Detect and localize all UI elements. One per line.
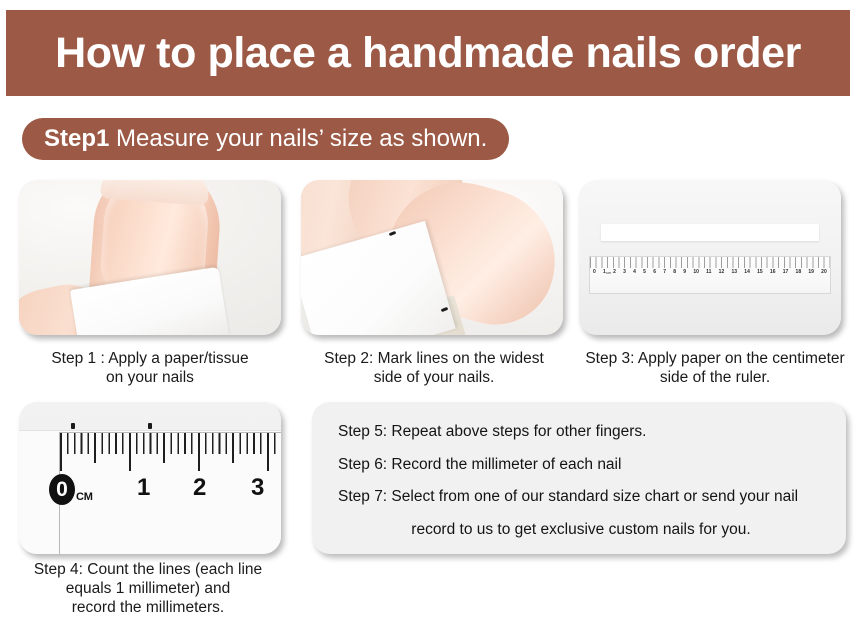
- steps-5-to-7-panel: Step 5: Repeat above steps for other fin…: [312, 402, 846, 554]
- ruler-number: 0: [593, 269, 596, 275]
- photo-card-step1: [19, 180, 281, 335]
- caption-step2: Step 2: Mark lines on the widest side of…: [295, 350, 573, 388]
- step1-banner-description: Measure your nails’ size as shown.: [116, 125, 487, 152]
- photo-thumb-with-paper-wrapped: [19, 180, 281, 335]
- ruler-tick-marks: [590, 257, 830, 268]
- ruler-unit-label: cm: [606, 270, 611, 275]
- ruler-number: 2: [613, 269, 616, 275]
- ruler-number: 12: [719, 269, 725, 275]
- step6-line: Step 6: Record the millimeter of each na…: [338, 455, 820, 475]
- ruler-number: 14: [744, 269, 750, 275]
- caption-step3: Step 3: Apply paper on the centimeter si…: [570, 350, 860, 388]
- ruler-number: 20: [821, 269, 827, 275]
- ruler-number: 10: [693, 269, 699, 275]
- ruler-number: 4: [633, 269, 636, 275]
- ruler-number-3: 3: [251, 476, 264, 500]
- ruler-number: 3: [623, 269, 626, 275]
- step1-banner: Step1 Measure your nails’ size as shown.: [22, 118, 509, 160]
- ruler-number: 8: [673, 269, 676, 275]
- caption-step1-line2: on your nails: [5, 369, 295, 388]
- header-banner: How to place a handmade nails order: [6, 10, 850, 96]
- ruler-zero-badge: 0: [49, 474, 75, 505]
- photo-card-step4: 0 CM 1 2 3: [19, 402, 281, 554]
- ruler-number: 17: [783, 269, 789, 275]
- step7-line1: Step 7: Select from one of our standard …: [338, 487, 820, 507]
- page-title: How to place a handmade nails order: [55, 32, 801, 75]
- ruler-number: 16: [770, 269, 776, 275]
- caption-step2-line2: side of your nails.: [295, 369, 573, 388]
- caption-step4-line1: Step 4: Count the lines (each line: [0, 561, 296, 580]
- caption-step4-line3: record the millimeters.: [0, 599, 296, 618]
- ruler-zero-group: 0 CM: [49, 474, 93, 505]
- caption-step3-line2: side of the ruler.: [570, 369, 860, 388]
- caption-step3-line1: Step 3: Apply paper on the centimeter: [570, 350, 860, 369]
- photo-card-step3: 0 1 2 3 4 5 6 7 8 9 10 11 12 13 14 15 16…: [579, 180, 841, 335]
- ruler-number-2: 2: [193, 476, 206, 500]
- step1-banner-strong: Step1: [44, 125, 109, 152]
- ruler-number: 11: [706, 269, 711, 275]
- ruler-number: 15: [757, 269, 763, 275]
- caption-step1: Step 1 : Apply a paper/tissue on your na…: [5, 350, 295, 388]
- ruler-number: 9: [683, 269, 686, 275]
- ruler-number: 5: [643, 269, 646, 275]
- photo-fingers-holding-marked-paper-strip: [301, 180, 563, 335]
- ruler-number: 7: [663, 269, 666, 275]
- pen-mark-right: [148, 423, 152, 429]
- caption-step4-line2: equals 1 millimeter) and: [0, 580, 296, 599]
- ruler-number: 19: [808, 269, 814, 275]
- ruler-number: 18: [796, 269, 802, 275]
- step5-line: Step 5: Repeat above steps for other fin…: [338, 422, 820, 442]
- photo-card-step2: [301, 180, 563, 335]
- photo-paper-strip-above-centimeter-ruler: 0 1 2 3 4 5 6 7 8 9 10 11 12 13 14 15 16…: [579, 180, 841, 335]
- ruler-number: 13: [731, 269, 737, 275]
- ruler-number-1: 1: [137, 476, 150, 500]
- ruler-number: 6: [653, 269, 656, 275]
- ruler-centimeter-ticks: [60, 433, 281, 471]
- ruler-unit-label: CM: [76, 491, 93, 503]
- ruler-number-row: 0 1 2 3 4 5 6 7 8 9 10 11 12 13 14 15 16…: [590, 269, 830, 275]
- caption-step2-line1: Step 2: Mark lines on the widest: [295, 350, 573, 369]
- photo-ruler-closeup-zero-to-three-cm: 0 CM 1 2 3: [19, 402, 281, 554]
- step1-banner-text: Step1 Measure your nails’ size as shown.: [44, 127, 487, 151]
- paper-strip-shape: [601, 224, 819, 241]
- ruler-shape: 0 1 2 3 4 5 6 7 8 9 10 11 12 13 14 15 16…: [589, 256, 831, 294]
- step7-line2: record to us to get exclusive custom nai…: [338, 520, 820, 540]
- caption-step4: Step 4: Count the lines (each line equal…: [0, 561, 296, 618]
- pen-mark-left: [71, 423, 75, 429]
- caption-step1-line1: Step 1 : Apply a paper/tissue: [5, 350, 295, 369]
